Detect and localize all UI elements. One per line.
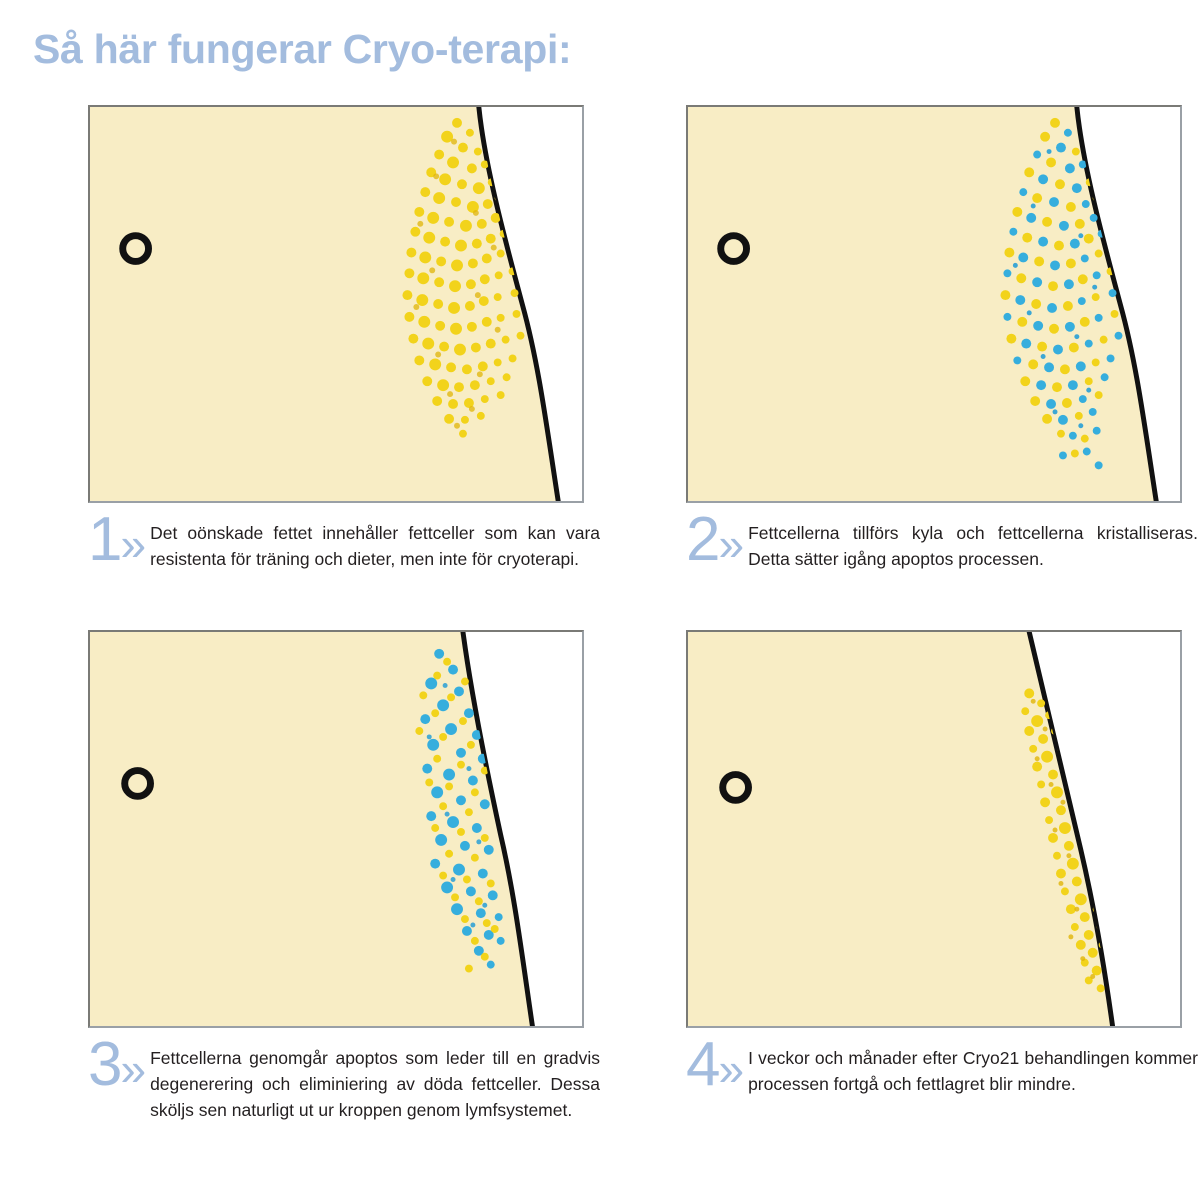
step-number-2: 2»	[686, 511, 740, 568]
illustration-wrap-2	[686, 105, 1196, 503]
caption-block-4: 4» I veckor och månader efter Cryo21 beh…	[686, 1042, 1198, 1098]
caption-block-1: 1» Det oönskade fettet innehåller fettce…	[88, 517, 600, 573]
illustration-wrap-1	[88, 105, 598, 503]
illustration-abdomen-fat-cells-crystallizing	[686, 105, 1182, 503]
caption-text-1: Det oönskade fettet innehåller fettcelle…	[150, 517, 600, 573]
step-number-digit-1: 1	[88, 505, 120, 574]
chevron-right-icon: »	[718, 518, 740, 570]
page-title: Så här fungerar Cryo-terapi:	[33, 26, 571, 73]
illustration-wrap-4	[686, 630, 1196, 1028]
step-number-1: 1»	[88, 511, 142, 568]
caption-text-4: I veckor och månader efter Cryo21 behand…	[748, 1042, 1198, 1098]
caption-block-3: 3» Fettcellerna genomgår apoptos som led…	[88, 1042, 600, 1124]
step-panel-4: 4» I veckor och månader efter Cryo21 beh…	[686, 630, 1196, 1098]
caption-block-2: 2» Fettcellerna tillförs kyla och fettce…	[686, 517, 1198, 573]
step-panel-2: 2» Fettcellerna tillförs kyla och fettce…	[686, 105, 1196, 573]
step-number-3: 3»	[88, 1036, 142, 1093]
illustration-abdomen-fat-layer-reduced	[686, 630, 1182, 1028]
step-number-digit-4: 4	[686, 1030, 718, 1099]
step-number-4: 4»	[686, 1036, 740, 1093]
step-panel-3: 3» Fettcellerna genomgår apoptos som led…	[88, 630, 598, 1124]
chevron-right-icon: »	[120, 1043, 142, 1095]
illustration-abdomen-fat-cells-apoptosis	[88, 630, 584, 1028]
caption-text-2: Fettcellerna tillförs kyla och fettcelle…	[748, 517, 1198, 573]
step-number-digit-2: 2	[686, 505, 718, 574]
chevron-right-icon: »	[120, 518, 142, 570]
step-number-digit-3: 3	[88, 1030, 120, 1099]
illustration-wrap-3	[88, 630, 598, 1028]
illustration-abdomen-fat-cells-yellow	[88, 105, 584, 503]
chevron-right-icon: »	[718, 1043, 740, 1095]
caption-text-3: Fettcellerna genomgår apoptos som leder …	[150, 1042, 600, 1124]
step-panel-1: 1» Det oönskade fettet innehåller fettce…	[88, 105, 598, 573]
